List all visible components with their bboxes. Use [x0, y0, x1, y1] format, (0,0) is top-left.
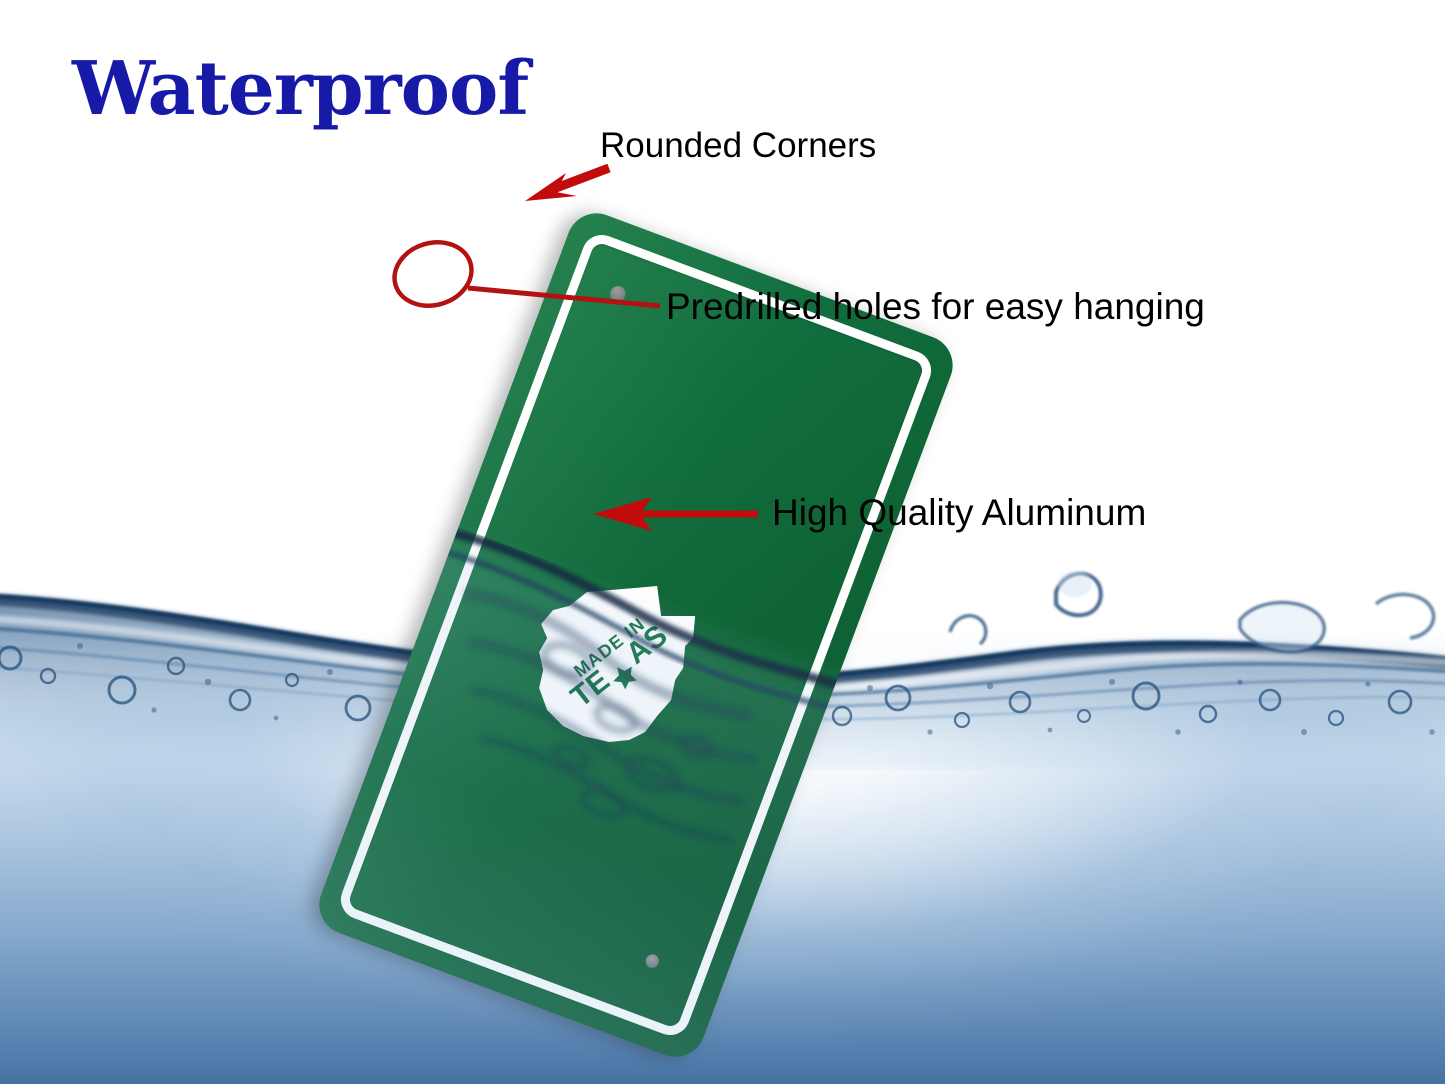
callout-label-predrilled-holes: Predrilled holes for easy hanging [666, 286, 1205, 328]
made-in-texas-logo: MADE IN TE AS [525, 576, 703, 748]
page-title: Waterproof [72, 46, 528, 132]
callout-label-rounded-corners: Rounded Corners [600, 126, 876, 166]
callout-label-high-quality-aluminum: High Quality Aluminum [772, 492, 1146, 534]
product-feature-image: MADE IN TE AS [0, 0, 1445, 1084]
